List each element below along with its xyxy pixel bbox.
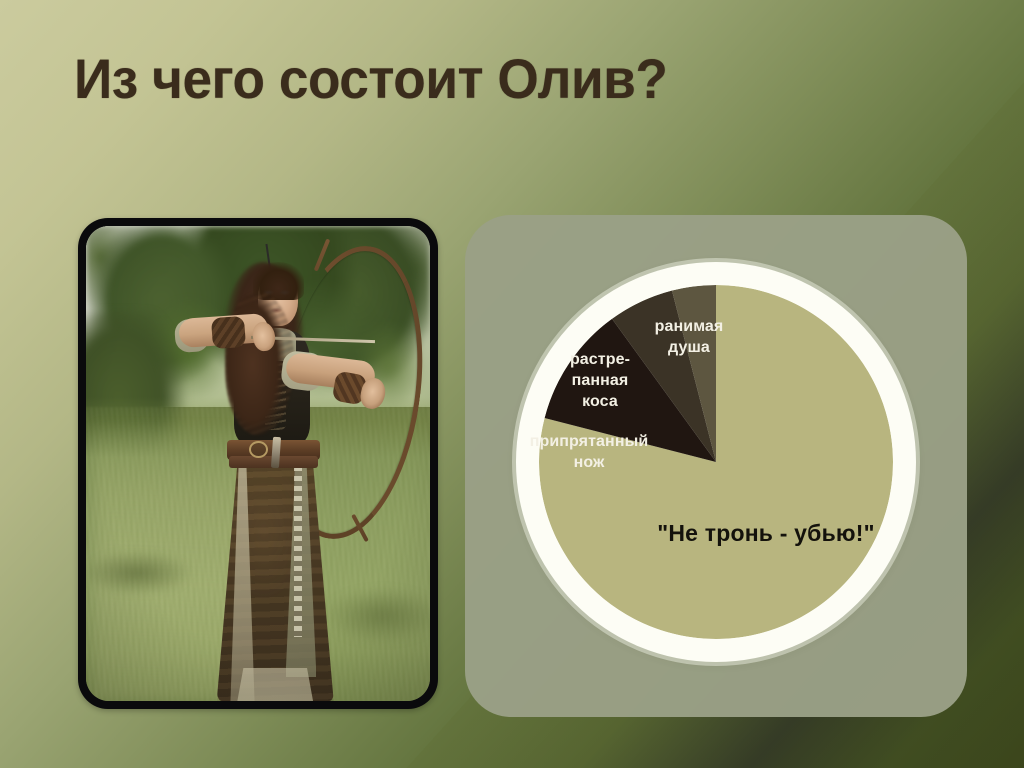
photo-grass-shadow-right: [320, 587, 430, 644]
pie-label-main: "Не тронь - убью!": [626, 520, 906, 547]
figure-skirt-lacing: [294, 466, 302, 637]
page-title: Из чего состоит Олив?: [74, 44, 891, 114]
figure-skirt-hem: [237, 668, 313, 701]
photo-grass-shadow-left: [86, 549, 196, 597]
figure-bracer-draw-arm: [210, 316, 245, 350]
pie-label-soul: ранимая душа: [639, 316, 739, 358]
photo-frame[interactable]: [78, 218, 438, 709]
pie-label-braid: растре- панная коса: [556, 349, 644, 412]
pie-label-knife: припрятанный нож: [524, 431, 654, 473]
slide-canvas: Из чего состоит Олив?: [0, 0, 1024, 768]
archer-photo: [86, 226, 430, 701]
